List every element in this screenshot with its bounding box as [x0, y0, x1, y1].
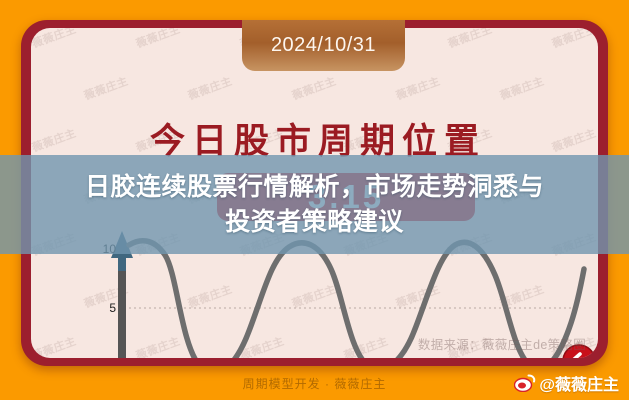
- watermark-text: 薇薇庄主: [394, 73, 443, 104]
- y-axis-tick-0: 0: [90, 356, 116, 358]
- overlay-caption-band: 日胶连续股票行情解析，市场走势洞悉与 投资者策略建议: [0, 155, 629, 254]
- watermark-text: 薇薇庄主: [550, 28, 598, 51]
- watermark-text: 薇薇庄主: [134, 28, 183, 51]
- data-source-note: 数据来源：薇薇庄主de策略圈: [418, 334, 586, 353]
- watermark-text: 薇薇庄主: [290, 73, 339, 104]
- y-axis-arrow-stem: [118, 253, 126, 271]
- watermark-text: 薇薇庄主: [31, 28, 78, 51]
- weibo-handle-text: @薇薇庄主: [539, 371, 619, 395]
- watermark-text: 薇薇庄主: [186, 73, 235, 104]
- watermark-text: 薇薇庄主: [82, 73, 131, 104]
- y-axis-tick-5: 5: [90, 301, 116, 315]
- overlay-caption-line-1: 日胶连续股票行情解析，市场走势洞悉与: [85, 170, 544, 205]
- watermark-text: 薇薇庄主: [498, 73, 547, 104]
- poster-root: 薇薇庄主薇薇庄主薇薇庄主薇薇庄主薇薇庄主薇薇庄主薇薇庄主薇薇庄主薇薇庄主薇薇庄主…: [0, 0, 629, 400]
- weibo-handle[interactable]: @薇薇庄主: [514, 371, 619, 395]
- date-badge: 2024/10/31: [242, 20, 405, 71]
- overlay-caption-line-2: 投资者策略建议: [225, 205, 404, 240]
- watermark-text: 薇薇庄主: [446, 28, 495, 51]
- weibo-logo-icon: [514, 374, 536, 392]
